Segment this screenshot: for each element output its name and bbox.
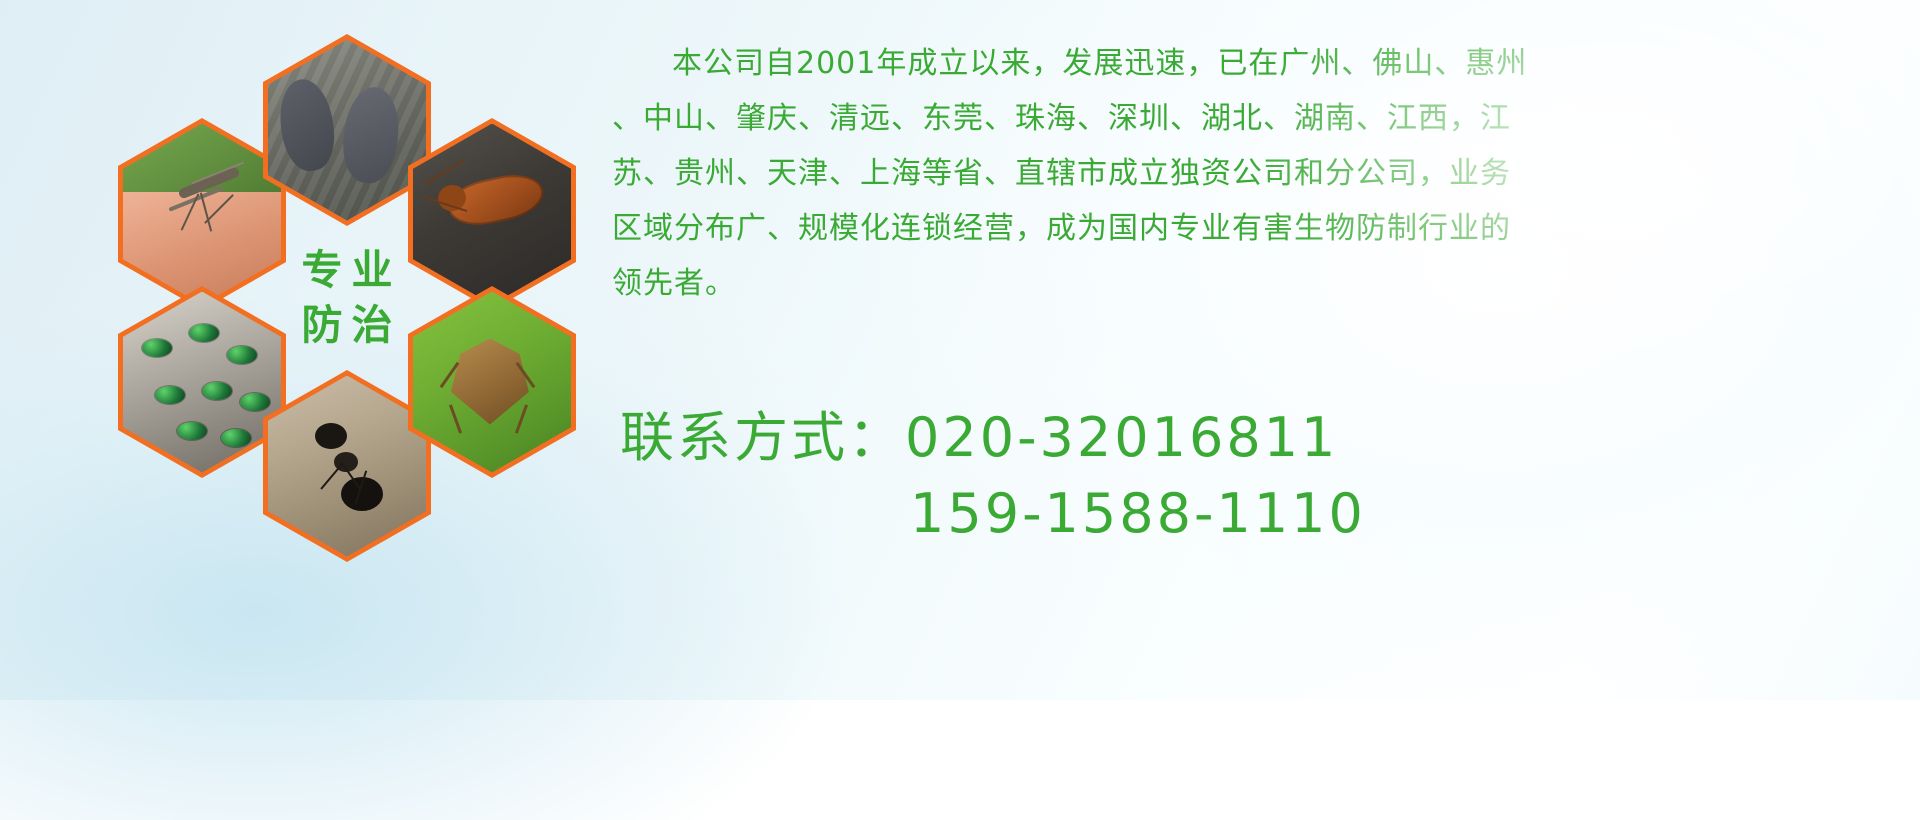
description-line-3: 苏、贵州、天津、上海等省、直辖市成立独资公司和分公司，业务 [612, 146, 1902, 201]
slogan-line-1: 专业 [293, 243, 402, 298]
slogan-hexagon: 专业 防治 [263, 202, 431, 394]
description-line-2: 、中山、肇庆、清远、东莞、珠海、深圳、湖北、湖南、江西，江 [612, 91, 1902, 146]
slogan-line-2: 防治 [293, 298, 402, 353]
company-banner: 专业 防治 本公司自2001年成立以来，发展迅速，已在广州、佛山、惠州 、中山、… [0, 0, 1920, 700]
hex-photo-flies [118, 286, 286, 478]
hex-photo-mosquito [118, 118, 286, 310]
contact-phone-secondary[interactable]: 159-1588-1110 [620, 476, 1820, 552]
hex-photo-rats [263, 34, 431, 226]
contact-block: 联系方式：020-32016811 159-1588-1110 [620, 400, 1820, 552]
contact-phone-primary[interactable]: 联系方式：020-32016811 [620, 400, 1820, 476]
description-line-1: 本公司自2001年成立以来，发展迅速，已在广州、佛山、惠州 [612, 36, 1902, 91]
hex-photo-cluster: 专业 防治 [88, 8, 588, 568]
hex-photo-stink-bug [408, 286, 576, 478]
hex-photo-cockroach [408, 118, 576, 310]
company-description: 本公司自2001年成立以来，发展迅速，已在广州、佛山、惠州 、中山、肇庆、清远、… [612, 36, 1902, 311]
description-line-4: 区域分布广、规模化连锁经营，成为国内专业有害生物防制行业的 [612, 201, 1902, 256]
hex-photo-ant [263, 370, 431, 562]
description-line-5: 领先者。 [612, 256, 1902, 311]
